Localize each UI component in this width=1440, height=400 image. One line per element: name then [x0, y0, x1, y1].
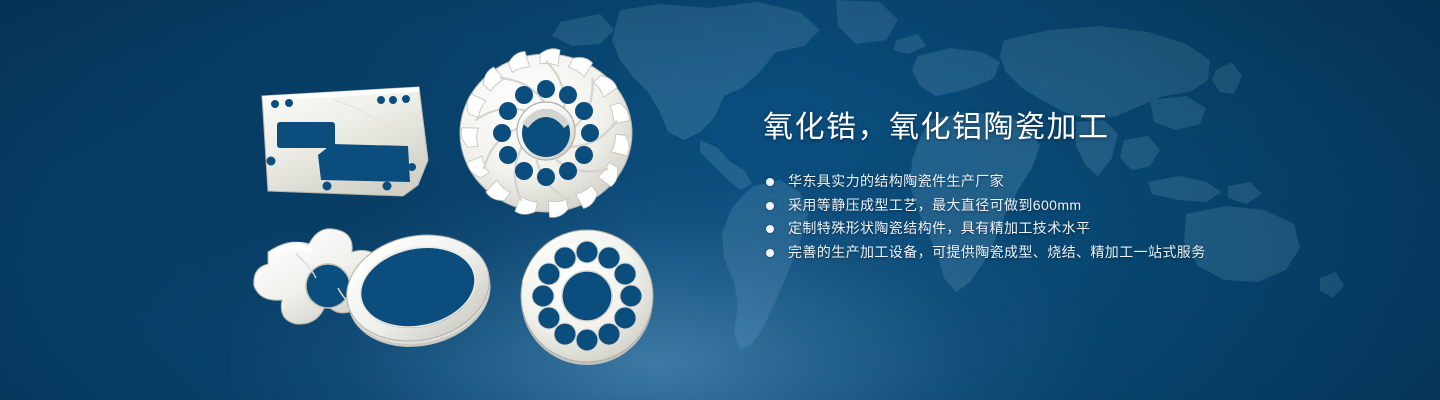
- feature-item-label: 采用等静压成型工艺，最大直径可做到600mm: [788, 197, 1081, 213]
- ceramic-valve-plate-shape: [521, 230, 653, 365]
- bullet-dot-icon: [766, 225, 774, 233]
- feature-item-label: 华东具实力的结构陶瓷件生产厂家: [788, 173, 1004, 189]
- feature-item: 完善的生产加工设备，可提供陶瓷成型、烧结、精加工一站式服务: [766, 241, 1383, 265]
- feature-item: 华东具实力的结构陶瓷件生产厂家: [766, 170, 1383, 194]
- ceramic-machined-plate-shape: [262, 87, 428, 196]
- bullet-dot-icon: [766, 202, 774, 210]
- bullet-dot-icon: [766, 249, 774, 257]
- feature-item: 定制特殊形状陶瓷结构件，具有精加工技术水平: [766, 217, 1383, 241]
- ceramic-products-image: [0, 0, 720, 400]
- bullet-dot-icon: [766, 178, 774, 186]
- feature-item-label: 定制特殊形状陶瓷结构件，具有精加工技术水平: [788, 220, 1090, 236]
- promo-banner: 氧化锆，氧化铝陶瓷加工 华东具实力的结构陶瓷件生产厂家 采用等静压成型工艺，最大…: [0, 0, 1440, 400]
- banner-headline: 氧化锆，氧化铝陶瓷加工: [763, 108, 1383, 148]
- feature-item: 采用等静压成型工艺，最大直径可做到600mm: [766, 194, 1383, 218]
- feature-item-label: 完善的生产加工设备，可提供陶瓷成型、烧结、精加工一站式服务: [788, 244, 1206, 260]
- banner-feature-list: 华东具实力的结构陶瓷件生产厂家 采用等静压成型工艺，最大直径可做到600mm 定…: [766, 170, 1383, 264]
- banner-text-block: 氧化锆，氧化铝陶瓷加工 华东具实力的结构陶瓷件生产厂家 采用等静压成型工艺，最大…: [763, 108, 1383, 264]
